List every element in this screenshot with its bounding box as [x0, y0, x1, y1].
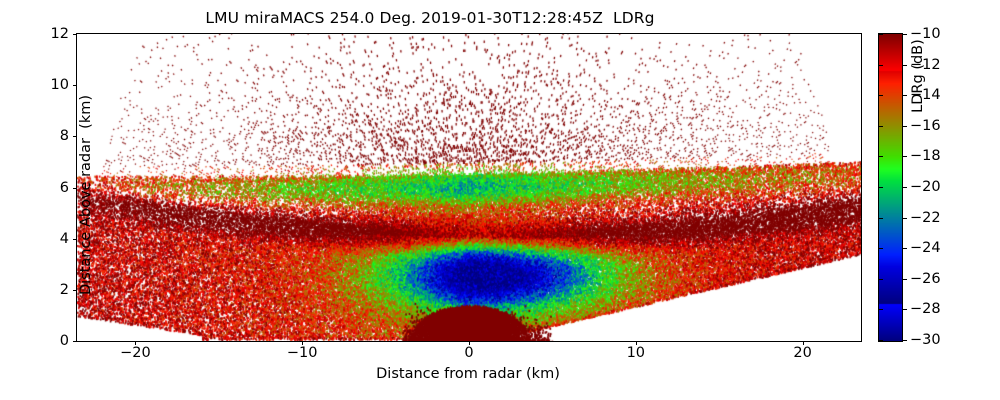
x-tick-label: 10: [627, 345, 645, 361]
colorbar-tick: [903, 95, 907, 96]
colorbar-tick-inner: [879, 156, 883, 157]
colorbar-tick: [903, 309, 907, 310]
y-tick-label: 2: [60, 282, 76, 298]
colorbar-tick-inner: [879, 218, 883, 219]
colorbar-tick-inner: [879, 279, 883, 280]
colorbar-tick-label: −30: [910, 332, 941, 348]
x-axis-label: Distance from radar (km): [76, 366, 860, 382]
colorbar-tick-label: −26: [910, 271, 941, 287]
y-tick-label: 6: [60, 180, 76, 196]
plot-axes: 024681012−20−1001020: [76, 33, 862, 342]
colorbar: −30−28−26−24−22−20−18−16−14−12−10: [878, 33, 903, 342]
colorbar-tick-inner: [879, 309, 883, 310]
page-title: LMU miraMACS 254.0 Deg. 2019-01-30T12:28…: [0, 9, 860, 27]
colorbar-tick-inner: [879, 340, 883, 341]
y-tick-label: 4: [60, 231, 76, 247]
x-tick-label: −10: [287, 345, 318, 361]
colorbar-tick: [903, 187, 907, 188]
colorbar-tick-label: −22: [910, 210, 941, 226]
x-tick-label: 20: [793, 345, 811, 361]
colorbar-tick-inner: [879, 95, 883, 96]
y-tick-label: 10: [51, 77, 76, 93]
colorbar-tick: [903, 279, 907, 280]
colorbar-tick-inner: [879, 126, 883, 127]
radar-data-canvas: [77, 34, 861, 341]
colorbar-tick-inner: [879, 34, 883, 35]
colorbar-tick: [903, 218, 907, 219]
colorbar-tick-inner: [879, 65, 883, 66]
colorbar-tick-label: −24: [910, 240, 941, 256]
colorbar-tick: [903, 34, 907, 35]
colorbar-tick: [903, 340, 907, 341]
colorbar-tick: [903, 156, 907, 157]
colorbar-label: LDRg (dB): [910, 0, 926, 186]
y-tick-label: 12: [51, 26, 76, 42]
x-tick-label: −20: [120, 345, 151, 361]
colorbar-tick-label: −28: [910, 301, 941, 317]
colorbar-tick: [903, 65, 907, 66]
x-tick-label: 0: [464, 345, 473, 361]
y-axis-label: Distance Above radar (km): [78, 25, 94, 365]
colorbar-tick: [903, 126, 907, 127]
y-tick-label: 0: [60, 333, 76, 349]
colorbar-tick-inner: [879, 248, 883, 249]
y-tick-label: 8: [60, 128, 76, 144]
radar-rhi-figure: LMU miraMACS 254.0 Deg. 2019-01-30T12:28…: [0, 0, 1000, 400]
colorbar-tick-inner: [879, 187, 883, 188]
colorbar-tick: [903, 248, 907, 249]
